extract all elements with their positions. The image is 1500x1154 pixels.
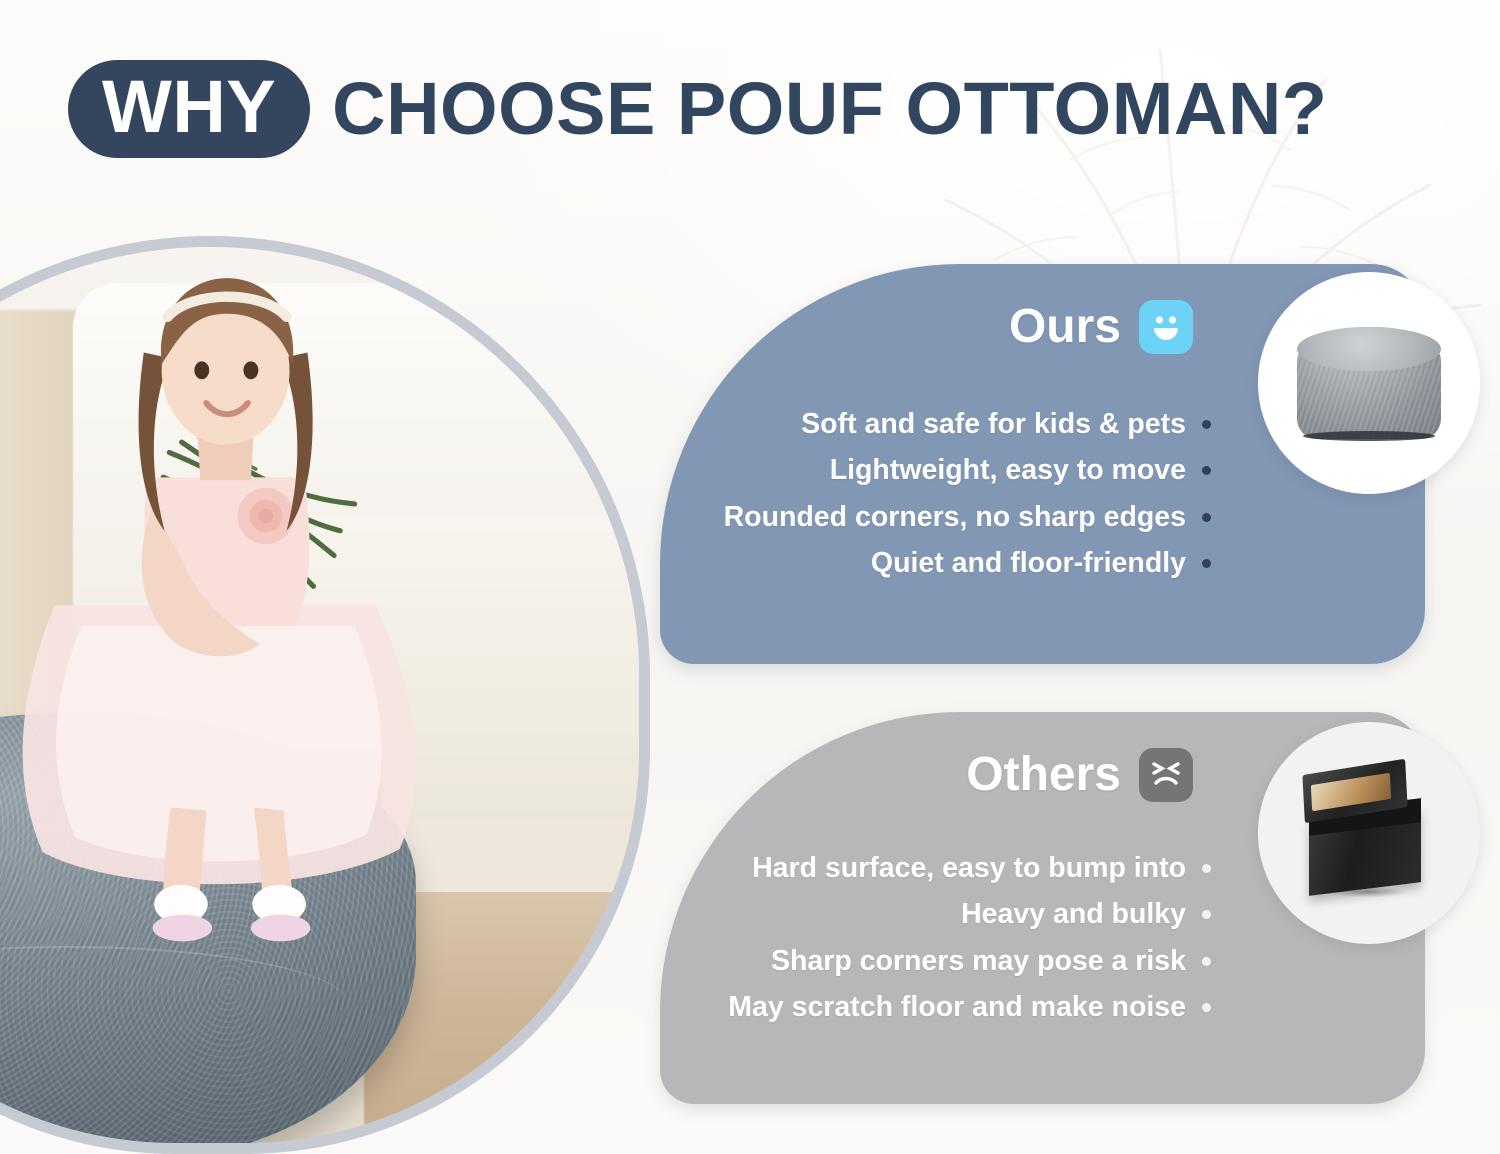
bullet-dot-icon: [1202, 910, 1211, 919]
ours-bullet-text: Quiet and floor-friendly: [871, 543, 1186, 583]
bullet-dot-icon: [1202, 864, 1211, 873]
pouf-base: [1303, 431, 1435, 441]
ours-label: Ours: [1009, 303, 1121, 351]
ours-bullet-text: Rounded corners, no sharp edges: [724, 497, 1186, 537]
black-storage-ottoman-image: [1269, 733, 1469, 933]
list-item: Heavy and bulky: [686, 894, 1211, 934]
bullet-dot-icon: [1202, 513, 1211, 522]
others-bullet-text: Heavy and bulky: [961, 894, 1186, 934]
round-pouf-ottoman-image: [1269, 283, 1469, 483]
ours-product-thumbnail: [1258, 272, 1480, 494]
photo-girl: [4, 247, 450, 964]
list-item: Sharp corners may pose a risk: [686, 941, 1211, 981]
list-item: Rounded corners, no sharp edges: [686, 497, 1211, 537]
list-item: May scratch floor and make noise: [686, 987, 1211, 1027]
bullet-dot-icon: [1202, 1003, 1211, 1012]
pouf-top: [1297, 327, 1441, 371]
why-badge: WHY: [68, 60, 310, 158]
list-item: Hard surface, easy to bump into: [686, 848, 1211, 888]
ours-benefit-list: Soft and safe for kids & pets Lightweigh…: [686, 404, 1211, 584]
others-label: Others: [966, 751, 1121, 799]
others-bullet-text: May scratch floor and make noise: [728, 987, 1186, 1027]
ours-bullet-text: Soft and safe for kids & pets: [801, 404, 1186, 444]
page-title-text: CHOOSE POUF OTTOMAN?: [332, 72, 1327, 146]
others-bullet-text: Sharp corners may pose a risk: [771, 941, 1186, 981]
others-product-thumbnail: [1258, 722, 1480, 944]
list-item: Soft and safe for kids & pets: [686, 404, 1211, 444]
lifestyle-photo-scene: [0, 247, 639, 1143]
bullet-dot-icon: [1202, 559, 1211, 568]
bullet-dot-icon: [1202, 420, 1211, 429]
others-bullet-text: Hard surface, easy to bump into: [752, 848, 1186, 888]
others-card-header: Others: [966, 748, 1193, 802]
list-item: Lightweight, easy to move: [686, 450, 1211, 490]
ours-card-header: Ours: [1009, 300, 1193, 354]
lifestyle-photo: [0, 236, 650, 1154]
ours-bullet-text: Lightweight, easy to move: [830, 450, 1186, 490]
page-title: WHY CHOOSE POUF OTTOMAN?: [68, 60, 1327, 158]
bullet-dot-icon: [1202, 466, 1211, 475]
smiley-sad-icon: [1139, 748, 1193, 802]
bullet-dot-icon: [1202, 957, 1211, 966]
others-drawback-list: Hard surface, easy to bump into Heavy an…: [686, 848, 1211, 1028]
list-item: Quiet and floor-friendly: [686, 543, 1211, 583]
smiley-happy-icon: [1139, 300, 1193, 354]
